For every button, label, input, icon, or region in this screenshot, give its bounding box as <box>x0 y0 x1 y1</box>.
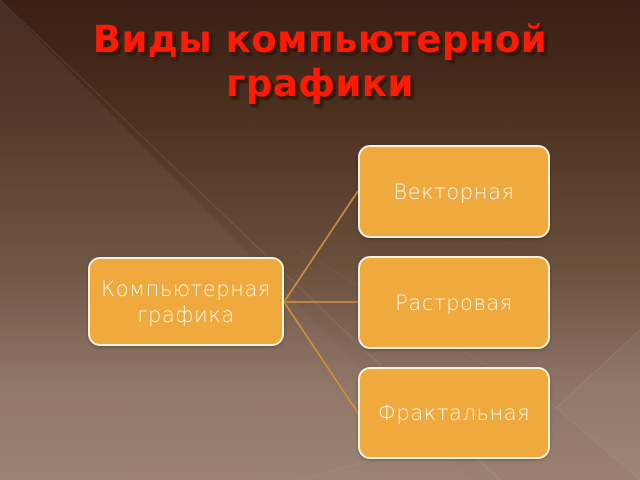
slide-title: Виды компьютерной графики <box>0 18 640 106</box>
node-raster-graphics[interactable]: Растровая <box>358 256 550 349</box>
node-fractal-graphics[interactable]: Фрактальная <box>358 367 550 459</box>
node-vector-graphics[interactable]: Векторная <box>358 145 550 238</box>
node-computer-graphics[interactable]: Компьютерная графика <box>88 257 284 346</box>
presentation-slide: Виды компьютерной графики Компьютерная г… <box>0 0 640 480</box>
